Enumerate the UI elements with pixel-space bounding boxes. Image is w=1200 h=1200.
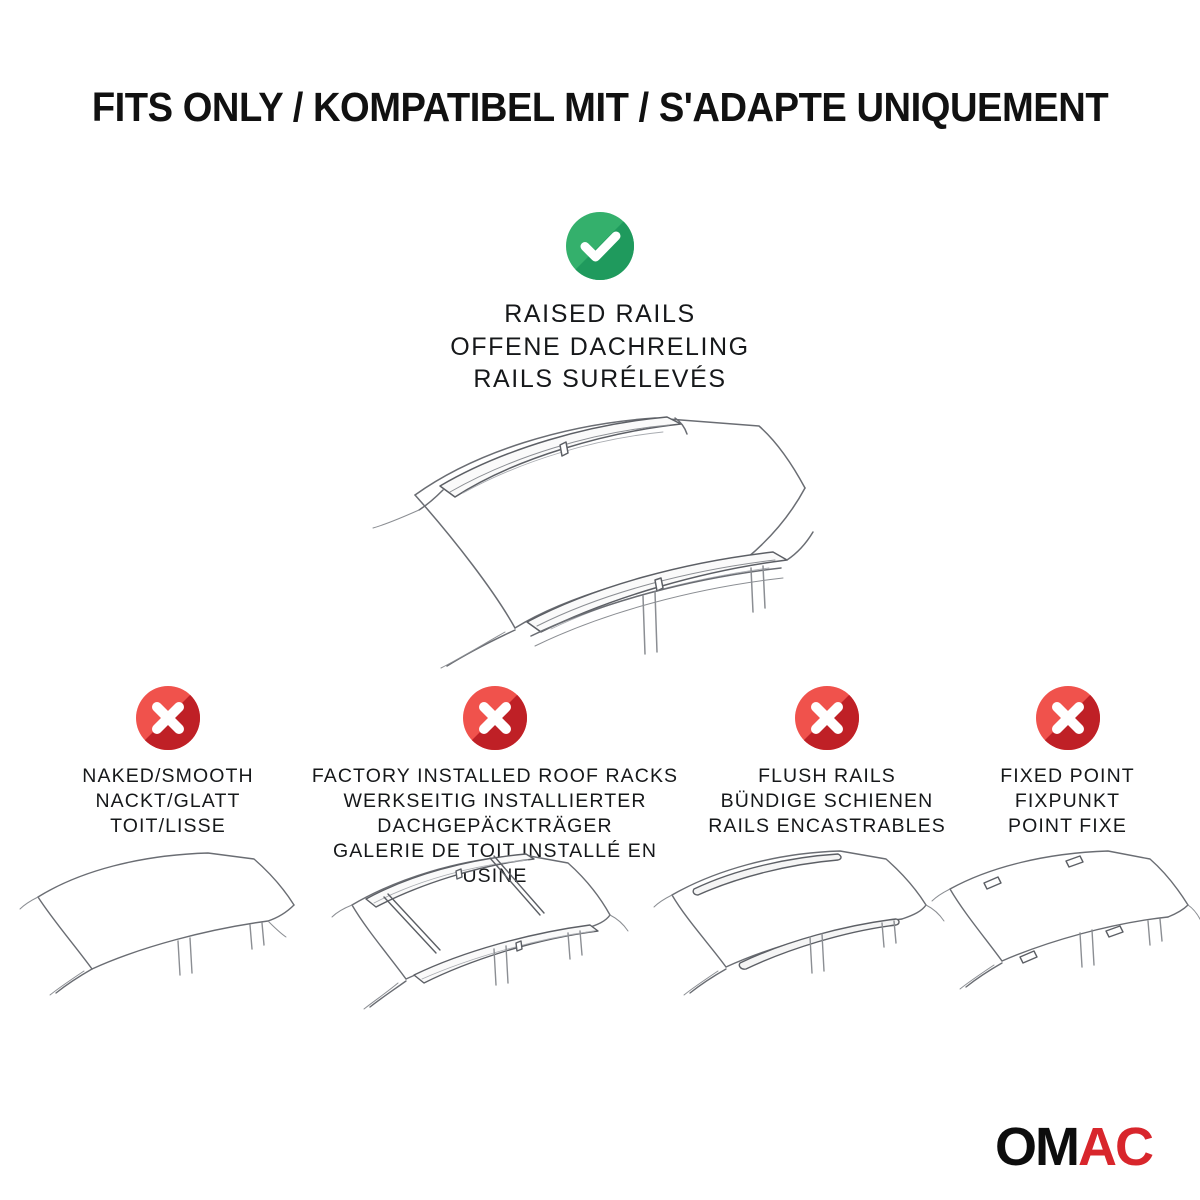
rejected-label-fr: POINT FIXE	[955, 814, 1180, 839]
approved-label-de: OFFENE DACHRELING	[300, 331, 900, 364]
illustration-fixed-points	[928, 845, 1200, 1035]
approved-label-fr: RAILS SURÉLEVÉS	[300, 363, 900, 396]
logo-text-om: OM	[995, 1117, 1078, 1177]
omac-logo: OMAC	[995, 1120, 1152, 1174]
illustration-factory-crossbars	[318, 845, 658, 1045]
check-circle-icon	[566, 212, 634, 280]
rejected-labels: FIXED POINT FIXPUNKT POINT FIXE	[955, 764, 1180, 839]
x-circle-icon	[1036, 686, 1100, 750]
rejected-column-fixed-point: FIXED POINT FIXPUNKT POINT FIXE	[955, 686, 1180, 839]
compatibility-infographic: FITS ONLY / KOMPATIBEL MIT / S'ADAPTE UN…	[0, 0, 1200, 1200]
x-mark-glyph	[136, 686, 200, 750]
rejected-label-en: FIXED POINT	[955, 764, 1180, 789]
illustration-flush-rails	[648, 845, 958, 1035]
logo-text-ac: AC	[1078, 1117, 1152, 1177]
approved-label-en: RAISED RAILS	[300, 298, 900, 331]
x-circle-icon	[795, 686, 859, 750]
rejected-labels: NAKED/SMOOTH NACKT/GLATT TOIT/LISSE	[28, 764, 308, 839]
approved-section: RAISED RAILS OFFENE DACHRELING RAILS SUR…	[300, 212, 900, 396]
rejected-label-de: BÜNDIGE SCHIENEN	[682, 789, 972, 814]
rejected-column-flush-rails: FLUSH RAILS BÜNDIGE SCHIENEN RAILS ENCAS…	[682, 686, 972, 839]
illustration-raised-rails	[355, 400, 845, 670]
rejected-label-fr: TOIT/LISSE	[28, 814, 308, 839]
rejected-label-de: FIXPUNKT	[955, 789, 1180, 814]
rejected-labels: FLUSH RAILS BÜNDIGE SCHIENEN RAILS ENCAS…	[682, 764, 972, 839]
check-mark-glyph	[566, 212, 634, 280]
page-title: FITS ONLY / KOMPATIBEL MIT / S'ADAPTE UN…	[42, 84, 1158, 131]
rejected-label-en: FLUSH RAILS	[682, 764, 972, 789]
x-mark-glyph	[1036, 686, 1100, 750]
rejected-label-en: NAKED/SMOOTH	[28, 764, 308, 789]
rejected-label-de-1: WERKSEITIG INSTALLIERTER	[300, 789, 690, 814]
x-circle-icon	[463, 686, 527, 750]
x-mark-glyph	[795, 686, 859, 750]
rejected-label-fr: RAILS ENCASTRABLES	[682, 814, 972, 839]
approved-labels: RAISED RAILS OFFENE DACHRELING RAILS SUR…	[300, 298, 900, 396]
rejected-label-de: NACKT/GLATT	[28, 789, 308, 814]
illustration-bare-roof	[18, 845, 318, 1035]
x-mark-glyph	[463, 686, 527, 750]
rejected-label-de-2: DACHGEPÄCKTRÄGER	[300, 814, 690, 839]
x-circle-icon	[136, 686, 200, 750]
rejected-label-en: FACTORY INSTALLED ROOF RACKS	[300, 764, 690, 789]
rejected-column-naked-smooth: NAKED/SMOOTH NACKT/GLATT TOIT/LISSE	[28, 686, 308, 839]
